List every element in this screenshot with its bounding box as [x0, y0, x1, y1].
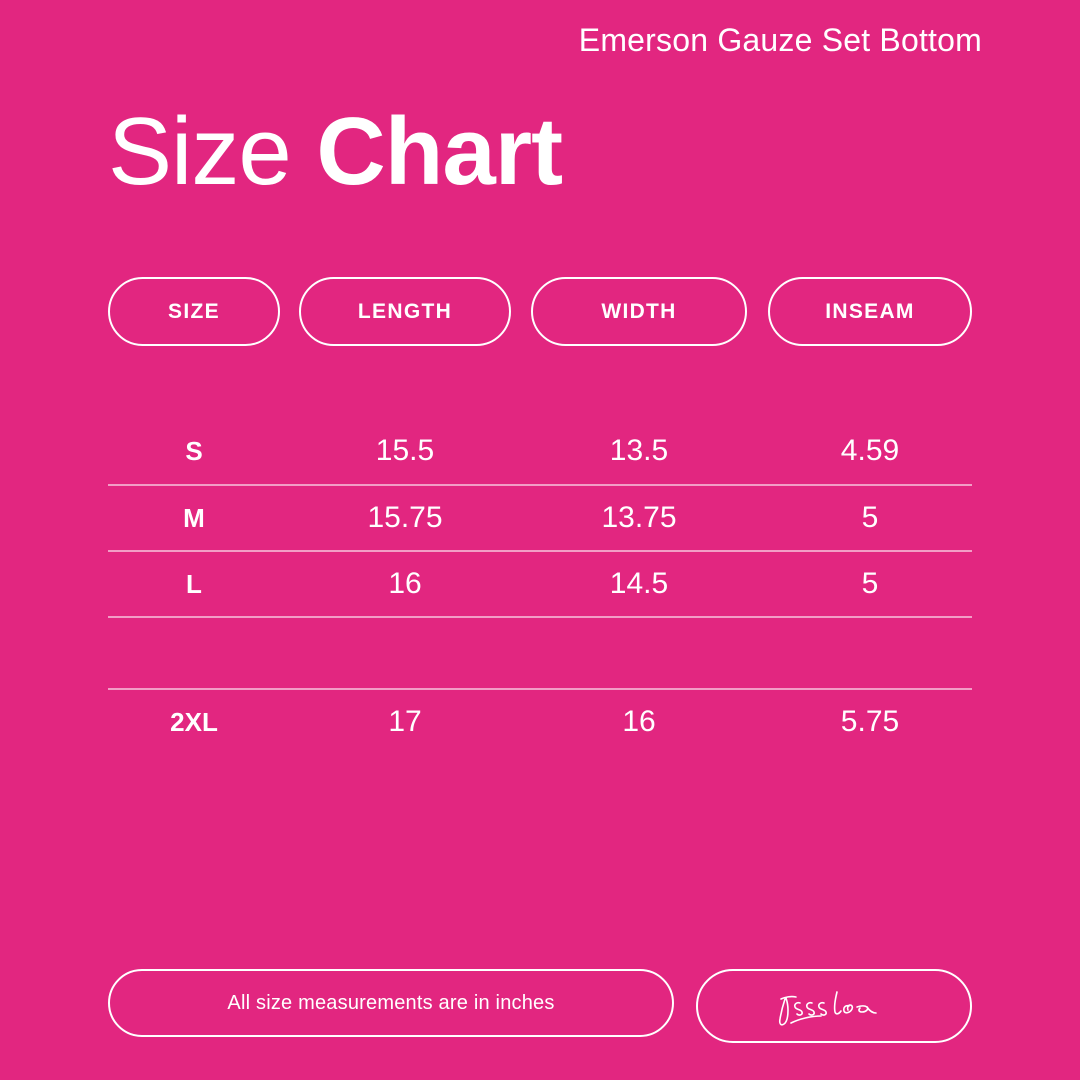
product-title: Emerson Gauze Set Bottom [579, 22, 982, 59]
table-row-empty [108, 616, 972, 688]
measurement-note-label: All size measurements are in inches [227, 992, 554, 1015]
cell-inseam: 5 [768, 567, 972, 601]
cell-size: M [108, 503, 280, 534]
table-row: L 16 14.5 5 [108, 550, 972, 616]
cell-size: L [108, 569, 280, 600]
brand-logo [696, 969, 972, 1043]
page-title-light: Size [108, 98, 316, 205]
page-title-bold: Chart [316, 98, 562, 205]
measurement-note: All size measurements are in inches [108, 969, 674, 1037]
footer: All size measurements are in inches [108, 969, 972, 1041]
column-header-width: WIDTH [531, 277, 747, 346]
cell-length: 15.75 [299, 501, 511, 535]
table-row: M 15.75 13.75 5 [108, 484, 972, 550]
jess-lea-signature-icon [769, 983, 899, 1029]
cell-inseam: 5 [768, 501, 972, 535]
column-header-width-label: WIDTH [601, 300, 676, 324]
cell-inseam: 5.75 [768, 705, 972, 739]
cell-size: S [108, 436, 280, 467]
column-header-size-label: SIZE [168, 300, 220, 324]
column-header-length: LENGTH [299, 277, 511, 346]
size-chart-page: Emerson Gauze Set Bottom Size Chart SIZE… [0, 0, 1080, 1080]
column-header-inseam: INSEAM [768, 277, 972, 346]
table-row: 2XL 17 16 5.75 [108, 688, 972, 754]
cell-width: 14.5 [531, 567, 747, 601]
size-table: S 15.5 13.5 4.59 M 15.75 13.75 5 L 16 14… [108, 418, 972, 754]
cell-width: 16 [531, 705, 747, 739]
cell-length: 17 [299, 705, 511, 739]
table-row: S 15.5 13.5 4.59 [108, 418, 972, 484]
cell-length: 15.5 [299, 434, 511, 468]
table-header-row: SIZE LENGTH WIDTH INSEAM [108, 277, 972, 346]
column-header-inseam-label: INSEAM [825, 300, 914, 324]
page-title: Size Chart [108, 104, 562, 200]
cell-size: 2XL [108, 707, 280, 738]
column-header-length-label: LENGTH [358, 300, 452, 324]
cell-length: 16 [299, 567, 511, 601]
cell-inseam: 4.59 [768, 434, 972, 468]
column-header-size: SIZE [108, 277, 280, 346]
cell-width: 13.5 [531, 434, 747, 468]
cell-width: 13.75 [531, 501, 747, 535]
